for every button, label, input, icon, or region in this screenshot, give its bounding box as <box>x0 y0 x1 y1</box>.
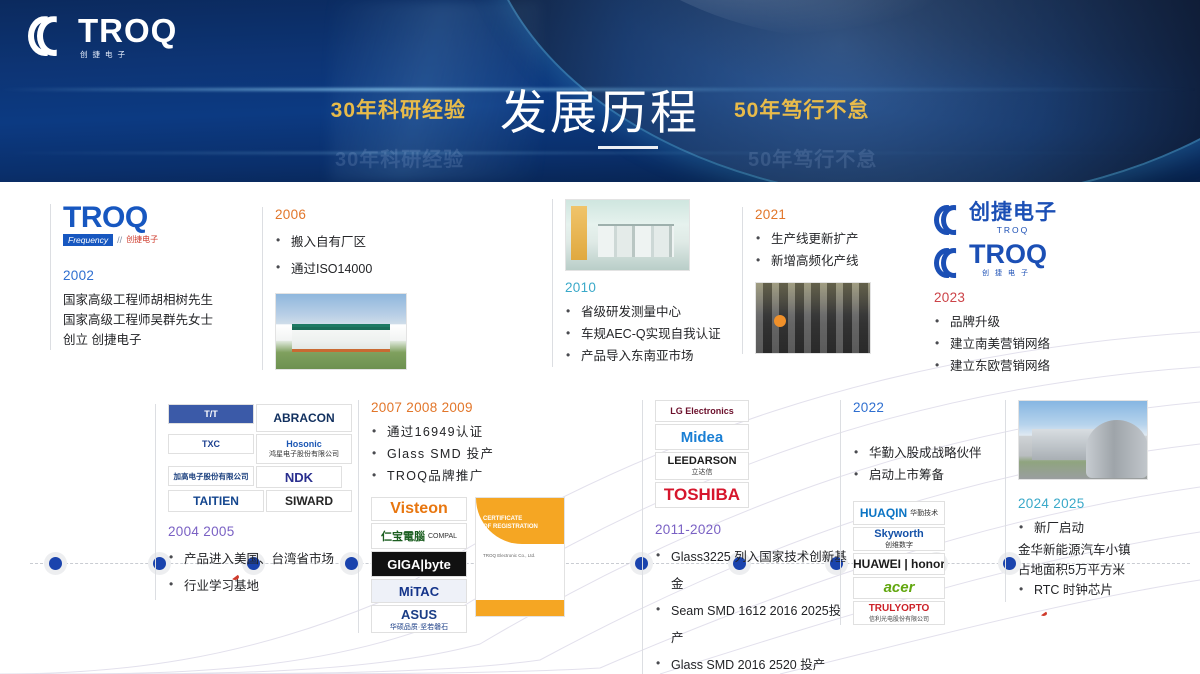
siward-logo: SIWARD <box>266 490 352 512</box>
troq-frequency-logo: TROQ Frequency // 创捷电子 <box>63 204 240 246</box>
card-2010-bullets: 省级研发测量中心 车规AEC-Q实现自我认证 产品导入东南亚市场 <box>565 302 732 367</box>
customer-logos-2011: LG Electronics Midea LEEDARSON 立达信 TOSHI… <box>655 400 751 508</box>
lab-photo <box>565 199 690 271</box>
card-2007-bullets: 通过16949认证 Glass SMD 投产 TROQ品牌推广 <box>371 422 568 487</box>
huaqin-logo-cn: 华勤技术 <box>910 508 938 518</box>
card-2002-line-1: 国家高级工程师胡相树先生 <box>63 290 240 310</box>
brand-wordmark: TROQ <box>969 241 1047 268</box>
card-2023-bullet-1: 品牌升级 <box>934 312 1114 334</box>
compal-logo-en: COMPAL <box>428 533 457 540</box>
hosonic-logo-cn: 鸿星电子股份有限公司 <box>269 449 339 459</box>
card-2022[interactable]: 2022 华勤入股成战略伙伴 启动上市筹备 HUAQIN 华勤技术 Skywor… <box>840 400 1010 625</box>
right-tagline: 50年笃行不怠 <box>734 94 869 124</box>
leedarson-logo-text: LEEDARSON <box>667 455 736 467</box>
card-2010-bullet-3: 产品导入东南亚市场 <box>565 346 732 368</box>
trulyopto-logo-text: TRULYOPTO <box>869 603 930 614</box>
light-streak-secondary-graphic <box>0 152 1200 154</box>
troq-wordmark: TROQ <box>63 204 240 232</box>
production-line-photo <box>755 282 871 354</box>
card-2021-bullet-1: 生产线更新扩产 <box>755 229 902 251</box>
card-2002[interactable]: TROQ Frequency // 创捷电子 2002 国家高级工程师胡相树先生… <box>50 204 240 350</box>
cc-logo-icon <box>28 16 68 56</box>
year-2010: 2010 <box>565 280 732 295</box>
ndk-logo: NDK <box>256 466 342 488</box>
year-2004-2005: 2004 2005 <box>168 524 351 539</box>
troq-brand-logo: TROQ 创捷电子 <box>934 241 1114 278</box>
card-2022-bullet-1: 华勤入股成战略伙伴 <box>853 443 1010 465</box>
card-2002-line-2: 国家高级工程师吴群先女士 <box>63 310 240 330</box>
tt-logo: T/T <box>168 404 254 424</box>
card-2024-plain-1: 金华新能源汽车小镇 <box>1018 540 1165 560</box>
card-2002-line-3: 创立 创捷电子 <box>63 330 240 350</box>
factory-photo <box>275 293 407 370</box>
trulyopto-logo: TRULYOPTO 信利光电股份有限公司 <box>853 601 945 625</box>
card-2006[interactable]: 2006 搬入自有厂区 通过ISO14000 <box>262 207 437 370</box>
certificate-subtitle: OF REGISTRATION <box>483 524 538 532</box>
cc-brand-icon-2 <box>934 248 964 278</box>
huaqin-logo: HUAQIN 华勤技术 <box>853 501 945 525</box>
card-2006-bullet-1: 搬入自有厂区 <box>275 229 437 256</box>
trulyopto-logo-cn: 信利光电股份有限公司 <box>869 614 929 623</box>
chuangjie-brand-logo: 创捷电子 TROQ <box>934 202 1114 235</box>
asus-logo-cn: 华硕品质·坚若磐石 <box>390 622 448 632</box>
hosonic-logo: Hosonic 鸿星电子股份有限公司 <box>256 434 352 464</box>
left-tagline: 30年科研经验 <box>331 94 466 124</box>
logo-slash-icon: // <box>117 235 122 245</box>
card-2004-bullet-2: 行业学习基地 <box>168 573 351 600</box>
year-2021: 2021 <box>755 207 902 222</box>
year-2022: 2022 <box>853 400 1010 415</box>
logo-subtitle: 创捷电子 <box>80 51 177 59</box>
company-logo: TROQ 创捷电子 <box>28 14 177 59</box>
card-2004-2005[interactable]: T/T ABRACON TXC Hosonic 鸿星电子股份有限公司 加高电子股… <box>155 404 351 600</box>
midea-logo: Midea <box>655 424 749 450</box>
card-2024-bullet-2: RTC 时钟芯片 <box>1018 580 1165 602</box>
honor-logo: HUAWEI | honor <box>853 553 945 575</box>
asus-logo: ASUS 华硕品质·坚若磐石 <box>371 605 467 633</box>
header-banner: TROQ 创捷电子 30年科研经验 50年笃行不怠 30年科研经验 发展历程 5… <box>0 0 1200 182</box>
card-2023-bullet-3: 建立东欧营销网络 <box>934 356 1114 378</box>
card-2021-bullet-2: 新增高频化产线 <box>755 251 902 273</box>
skyworth-logo-cn: 创维数字 <box>885 540 913 550</box>
frequency-badge: Frequency <box>63 234 113 246</box>
ghost-text-right: 50年笃行不怠 <box>748 143 877 172</box>
card-2021-bullets: 生产线更新扩产 新增高频化产线 <box>755 229 902 273</box>
compal-logo: 仁宝電腦 COMPAL <box>371 523 467 549</box>
toshiba-logo: TOSHIBA <box>655 482 749 508</box>
partner-logos-2022: HUAQIN 华勤技术 Skyworth 创维数字 HUAWEI | honor… <box>853 501 947 625</box>
brand-tag-text: TROQ <box>969 225 1057 235</box>
customer-logos-2004: T/T ABRACON TXC Hosonic 鸿星电子股份有限公司 加高电子股… <box>168 404 356 512</box>
partner-logos-2007: Visteon 仁宝電腦 COMPAL GIGA|byte MiTAC ASUS… <box>371 497 568 633</box>
card-2024-bullet-1: 新厂启动 <box>1018 518 1165 540</box>
card-2022-bullets: 华勤入股成战略伙伴 启动上市筹备 <box>853 443 1010 487</box>
logo-wordmark: TROQ <box>78 14 177 47</box>
title-row: 30年科研经验 发展历程 50年笃行不怠 <box>0 74 1200 143</box>
troq-logo-cn: 创捷电子 <box>126 234 158 245</box>
year-2011-2020: 2011-2020 <box>655 522 847 537</box>
brand-cn-text: 创捷电子 <box>969 202 1057 223</box>
card-2021[interactable]: 2021 生产线更新扩产 新增高频化产线 <box>742 207 902 354</box>
card-2023[interactable]: 创捷电子 TROQ TROQ 创捷电子 2023 品牌升级 建立南美营销网络 建… <box>934 202 1114 377</box>
partner-logo-column: Visteon 仁宝電腦 COMPAL GIGA|byte MiTAC ASUS… <box>371 497 469 633</box>
gigabyte-logo: GIGA|byte <box>371 551 467 577</box>
lg-logo: LG Electronics <box>655 400 749 422</box>
year-2024-2025: 2024 2025 <box>1018 496 1165 511</box>
card-2004-bullet-1: 产品进入美国、台湾省市场 <box>168 546 351 573</box>
huaqin-logo-text: HUAQIN <box>860 506 907 520</box>
card-2004-bullets: 产品进入美国、台湾省市场 行业学习基地 <box>168 546 351 600</box>
card-2006-bullets: 搬入自有厂区 通过ISO14000 <box>275 229 437 283</box>
leedarson-logo-cn: 立达信 <box>692 467 713 477</box>
jiagao-logo: 加高电子股份有限公司 <box>168 466 254 486</box>
mitac-logo: MiTAC <box>371 579 467 603</box>
taitien-logo: TAITIEN <box>168 490 264 512</box>
acer-logo: acer <box>853 577 945 599</box>
abracon-logo: ABRACON <box>256 404 352 432</box>
card-2007-bullet-2: Glass SMD 投产 <box>371 444 568 466</box>
year-2007-2009: 2007 2008 2009 <box>371 400 568 415</box>
title-underline <box>598 146 658 149</box>
skyworth-logo: Skyworth 创维数字 <box>853 527 945 551</box>
new-factory-photo <box>1018 400 1148 480</box>
timeline-stage: TROQ Frequency // 创捷电子 2002 国家高级工程师胡相树先生… <box>0 182 1200 674</box>
certificate-title: CERTIFICATE <box>483 516 538 524</box>
card-2011-bullet-1: Glass3225 列入国家技术创新基金 <box>655 544 847 598</box>
ghost-text-left: 30年科研经验 <box>335 143 464 172</box>
brand-wordmark-cn: 创捷电子 <box>969 268 1047 278</box>
card-2023-bullets: 品牌升级 建立南美营销网络 建立东欧营销网络 <box>934 312 1114 377</box>
page-title: 发展历程 <box>500 74 700 143</box>
card-2011-bullet-2: Seam SMD 1612 2016 2025投产 <box>655 598 847 652</box>
certificate-image: CERTIFICATE OF REGISTRATION TROQ Electro… <box>475 497 565 617</box>
card-2010-bullet-1: 省级研发测量中心 <box>565 302 732 324</box>
card-2024-bullets-bottom: RTC 时钟芯片 <box>1018 580 1165 602</box>
asus-logo-text: ASUS <box>401 607 437 622</box>
card-2011-bullet-3: Glass SMD 2016 2520 投产 <box>655 652 847 674</box>
card-2022-bullet-2: 启动上市筹备 <box>853 465 1010 487</box>
card-2007-2009[interactable]: 2007 2008 2009 通过16949认证 Glass SMD 投产 TR… <box>358 400 568 633</box>
cc-brand-icon <box>934 205 964 235</box>
card-2024-2025[interactable]: 2024 2025 新厂启动 金华新能源汽车小镇 占地面积5万平方米 RTC 时… <box>1005 400 1165 602</box>
year-2006: 2006 <box>275 207 437 222</box>
card-2023-bullet-2: 建立南美营销网络 <box>934 334 1114 356</box>
year-2023: 2023 <box>934 290 1114 305</box>
card-2024-bullets-top: 新厂启动 <box>1018 518 1165 540</box>
card-2010-bullet-2: 车规AEC-Q实现自我认证 <box>565 324 732 346</box>
hosonic-logo-text: Hosonic <box>286 439 322 449</box>
compal-logo-text: 仁宝電腦 <box>381 528 425 544</box>
txc-logo: TXC <box>168 434 254 454</box>
card-2010[interactable]: 2010 省级研发测量中心 车规AEC-Q实现自我认证 产品导入东南亚市场 <box>552 199 732 367</box>
card-2024-plain-2: 占地面积5万平方米 <box>1018 560 1165 580</box>
card-2007-bullet-1: 通过16949认证 <box>371 422 568 444</box>
card-2006-bullet-2: 通过ISO14000 <box>275 256 437 283</box>
visteon-logo: Visteon <box>371 497 467 521</box>
card-2011-2020[interactable]: LG Electronics Midea LEEDARSON 立达信 TOSHI… <box>642 400 847 674</box>
year-2002: 2002 <box>63 268 240 283</box>
leedarson-logo: LEEDARSON 立达信 <box>655 452 749 480</box>
certificate-company: TROQ Electronic Co., Ltd. <box>483 552 557 560</box>
card-2007-bullet-3: TROQ品牌推广 <box>371 466 568 488</box>
card-2011-bullets: Glass3225 列入国家技术创新基金 Seam SMD 1612 2016 … <box>655 544 847 674</box>
timeline-dot-1[interactable] <box>44 552 67 575</box>
skyworth-logo-text: Skyworth <box>874 528 924 540</box>
